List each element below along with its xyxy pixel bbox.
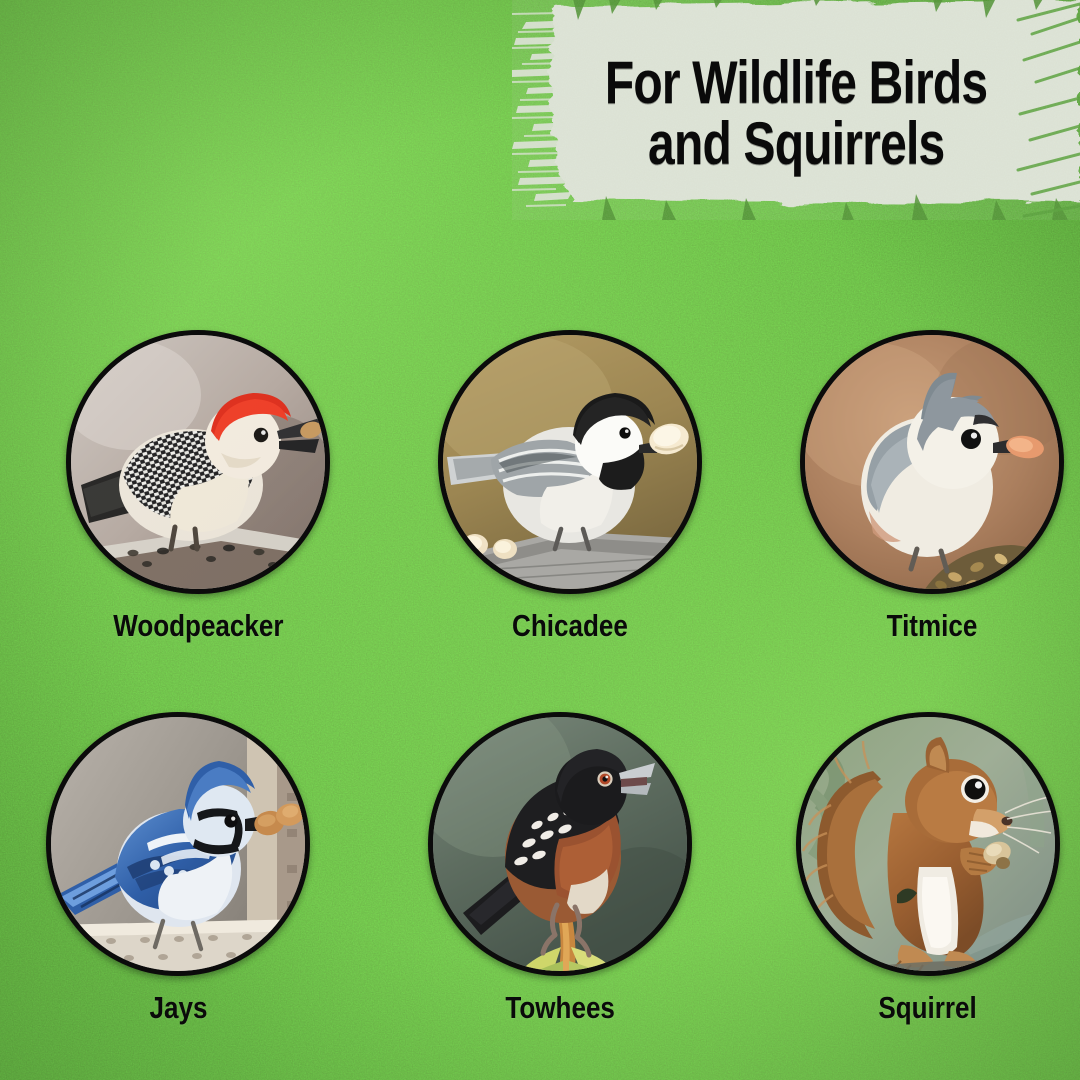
- gallery-item-titmice[interactable]: Titmice: [782, 330, 1080, 660]
- titmouse-photo[interactable]: [800, 330, 1064, 594]
- title-banner: [512, 0, 1080, 220]
- chickadee-photo[interactable]: [438, 330, 702, 594]
- gallery-item-woodpecker[interactable]: Woodpeacker: [48, 330, 348, 660]
- caption-chickadee: Chicadee: [512, 608, 628, 644]
- product-infographic: For Wildlife Birds and Squirrels: [0, 0, 1080, 1080]
- caption-jays: Jays: [149, 990, 207, 1026]
- towhee-photo[interactable]: [428, 712, 692, 976]
- caption-woodpecker: Woodpeacker: [113, 608, 283, 644]
- squirrel-photo[interactable]: [796, 712, 1060, 976]
- gallery-row-top: Woodpeacker: [0, 330, 1080, 660]
- gallery-item-towhees[interactable]: Towhees: [410, 712, 710, 1042]
- caption-towhees: Towhees: [505, 990, 614, 1026]
- caption-titmice: Titmice: [887, 608, 978, 644]
- gallery-item-chickadee[interactable]: Chicadee: [420, 330, 720, 660]
- gallery-row-bottom: Jays: [0, 712, 1080, 1042]
- gallery-item-squirrel[interactable]: Squirrel: [778, 712, 1078, 1042]
- caption-squirrel: Squirrel: [879, 990, 977, 1026]
- bluejay-photo[interactable]: [46, 712, 310, 976]
- gallery-item-jays[interactable]: Jays: [28, 712, 328, 1042]
- woodpecker-photo[interactable]: [66, 330, 330, 594]
